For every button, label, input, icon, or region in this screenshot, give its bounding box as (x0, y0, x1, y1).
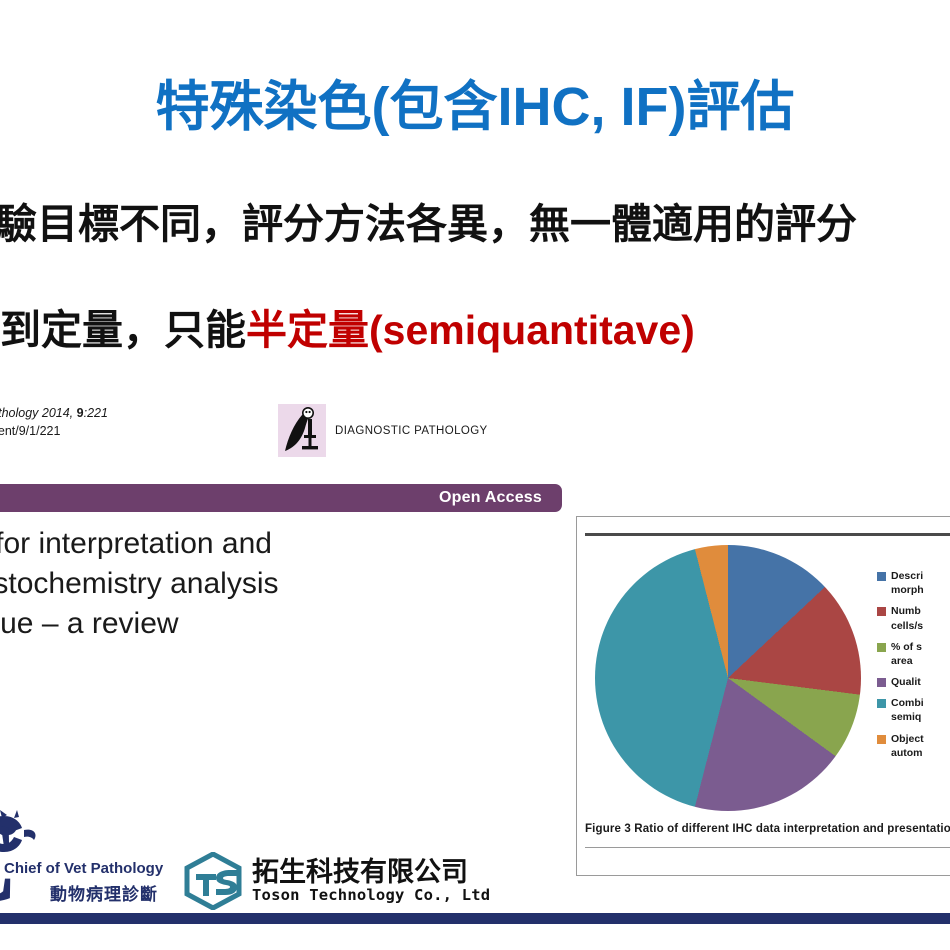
legend-label: Qualit (891, 675, 921, 689)
toson-technology-logo: 拓生科技有限公司 Toson Technology Co., Ltd (182, 852, 490, 910)
legend-label-line-2: semiq (891, 710, 924, 724)
figure-panel: DescrimorphNumbcells/s% of sareaQualitCo… (576, 516, 950, 876)
legend-label: Objectautom (891, 732, 924, 760)
legend-item: Qualit (877, 675, 950, 689)
legend-item: Combisemiq (877, 696, 950, 724)
legend-item: Objectautom (877, 732, 950, 760)
legend-item: Descrimorph (877, 569, 950, 597)
body-text-highlight: 半定量(semiquantitave) (246, 307, 695, 353)
legend-label: Combisemiq (891, 696, 924, 724)
legend-swatch (877, 643, 886, 652)
figure-bottom-rule (585, 847, 950, 848)
figure-caption: Figure 3 Ratio of different IHC data int… (585, 823, 950, 835)
pie-chart-legend: DescrimorphNumbcells/s% of sareaQualitCo… (877, 569, 950, 767)
article-title-line-3: the bone tissue – a review (0, 604, 279, 644)
body-text-line-2: 法做到定量，只能半定量(semiquantitave) (0, 310, 695, 351)
vet-pathology-label-zh: 動物病理診斷 (50, 880, 158, 905)
body-text-line-1: 應實驗目標不同，評分方法各異，無一體適用的評分 (0, 204, 857, 245)
journal-logo-label: DIAGNOSTIC PATHOLOGY (335, 425, 488, 437)
slide-canvas: 特殊染色(包含IHC, IF)評估 應實驗目標不同，評分方法各異，無一體適用的評… (0, 0, 950, 950)
legend-swatch (877, 572, 886, 581)
legend-swatch (877, 699, 886, 708)
vet-pathology-label-en: Chief of Vet Pathology (4, 860, 163, 877)
journal-url: ogy.org/content/9/1/221 (0, 422, 60, 440)
toson-text-block: 拓生科技有限公司 Toson Technology Co., Ltd (252, 858, 490, 903)
legend-item: % of sarea (877, 640, 950, 668)
legend-label: % of sarea (891, 640, 922, 668)
vet-pathology-logo: C Chief of Vet Pathology 動物病理診斷 (0, 796, 184, 908)
microscope-bird-icon (278, 404, 326, 457)
legend-label-line-2: autom (891, 746, 924, 760)
pie-chart (595, 545, 861, 811)
open-access-label: Open Access (439, 489, 542, 507)
journal-logo: DIAGNOSTIC PATHOLOGY (278, 404, 488, 457)
footer-bar (0, 913, 950, 924)
toson-hexagon-icon (182, 852, 244, 910)
legend-label-line-2: area (891, 654, 922, 668)
legend-label-line-2: cells/s (891, 619, 923, 633)
article-title-line-2: of immunohistochemistry analysis (0, 564, 279, 604)
legend-label-line-2: morph (891, 583, 924, 597)
legend-item: Numbcells/s (877, 604, 950, 632)
body-text-line-2-prefix: 法做到定量，只能 (0, 307, 246, 353)
journal-citation-year: 2014, (38, 406, 76, 420)
toson-name-en: Toson Technology Co., Ltd (252, 887, 490, 904)
legend-swatch (877, 678, 886, 687)
legend-label: Numbcells/s (891, 604, 923, 632)
journal-citation: iagnostic Pathology 2014, 9:221 (0, 404, 108, 422)
journal-citation-volume: 9 (77, 406, 84, 420)
journal-citation-name: iagnostic Pathology (0, 406, 38, 420)
journal-citation-page: :221 (84, 406, 108, 420)
toson-name-zh: 拓生科技有限公司 (252, 858, 490, 886)
page-title: 特殊染色(包含IHC, IF)評估 (0, 62, 950, 141)
figure-top-rule (585, 533, 950, 536)
article-title-line-1: approaches for interpretation and (0, 524, 279, 564)
legend-swatch (877, 607, 886, 616)
open-access-banner: Open Access (0, 484, 562, 512)
legend-label: Descrimorph (891, 569, 924, 597)
legend-swatch (877, 735, 886, 744)
article-title: approaches for interpretation and of imm… (0, 524, 279, 644)
